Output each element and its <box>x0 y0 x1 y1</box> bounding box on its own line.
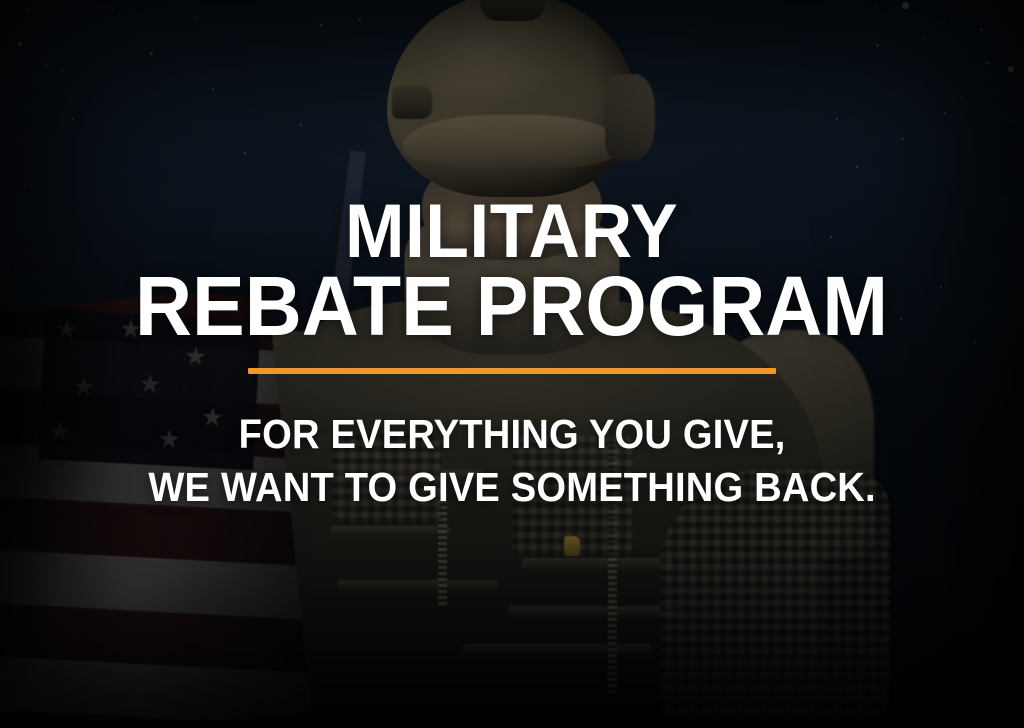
subhead-line-1: FOR EVERYTHING YOU GIVE, <box>239 411 786 457</box>
banner-content: MILITARY REBATE PROGRAM FOR EVERYTHING Y… <box>0 0 1024 728</box>
orange-divider <box>248 368 776 374</box>
military-rebate-banner: ★★★★★★★★ MILITARY REBATE PROGRAM FOR EVE… <box>0 0 1024 728</box>
subhead-line-2: WE WANT TO GIVE SOMETHING BACK. <box>148 461 875 513</box>
banner-headline: MILITARY REBATE PROGRAM <box>135 196 888 346</box>
headline-line-2: REBATE PROGRAM <box>135 267 888 346</box>
banner-subheadline: FOR EVERYTHING YOU GIVE, WE WANT TO GIVE… <box>148 408 875 513</box>
